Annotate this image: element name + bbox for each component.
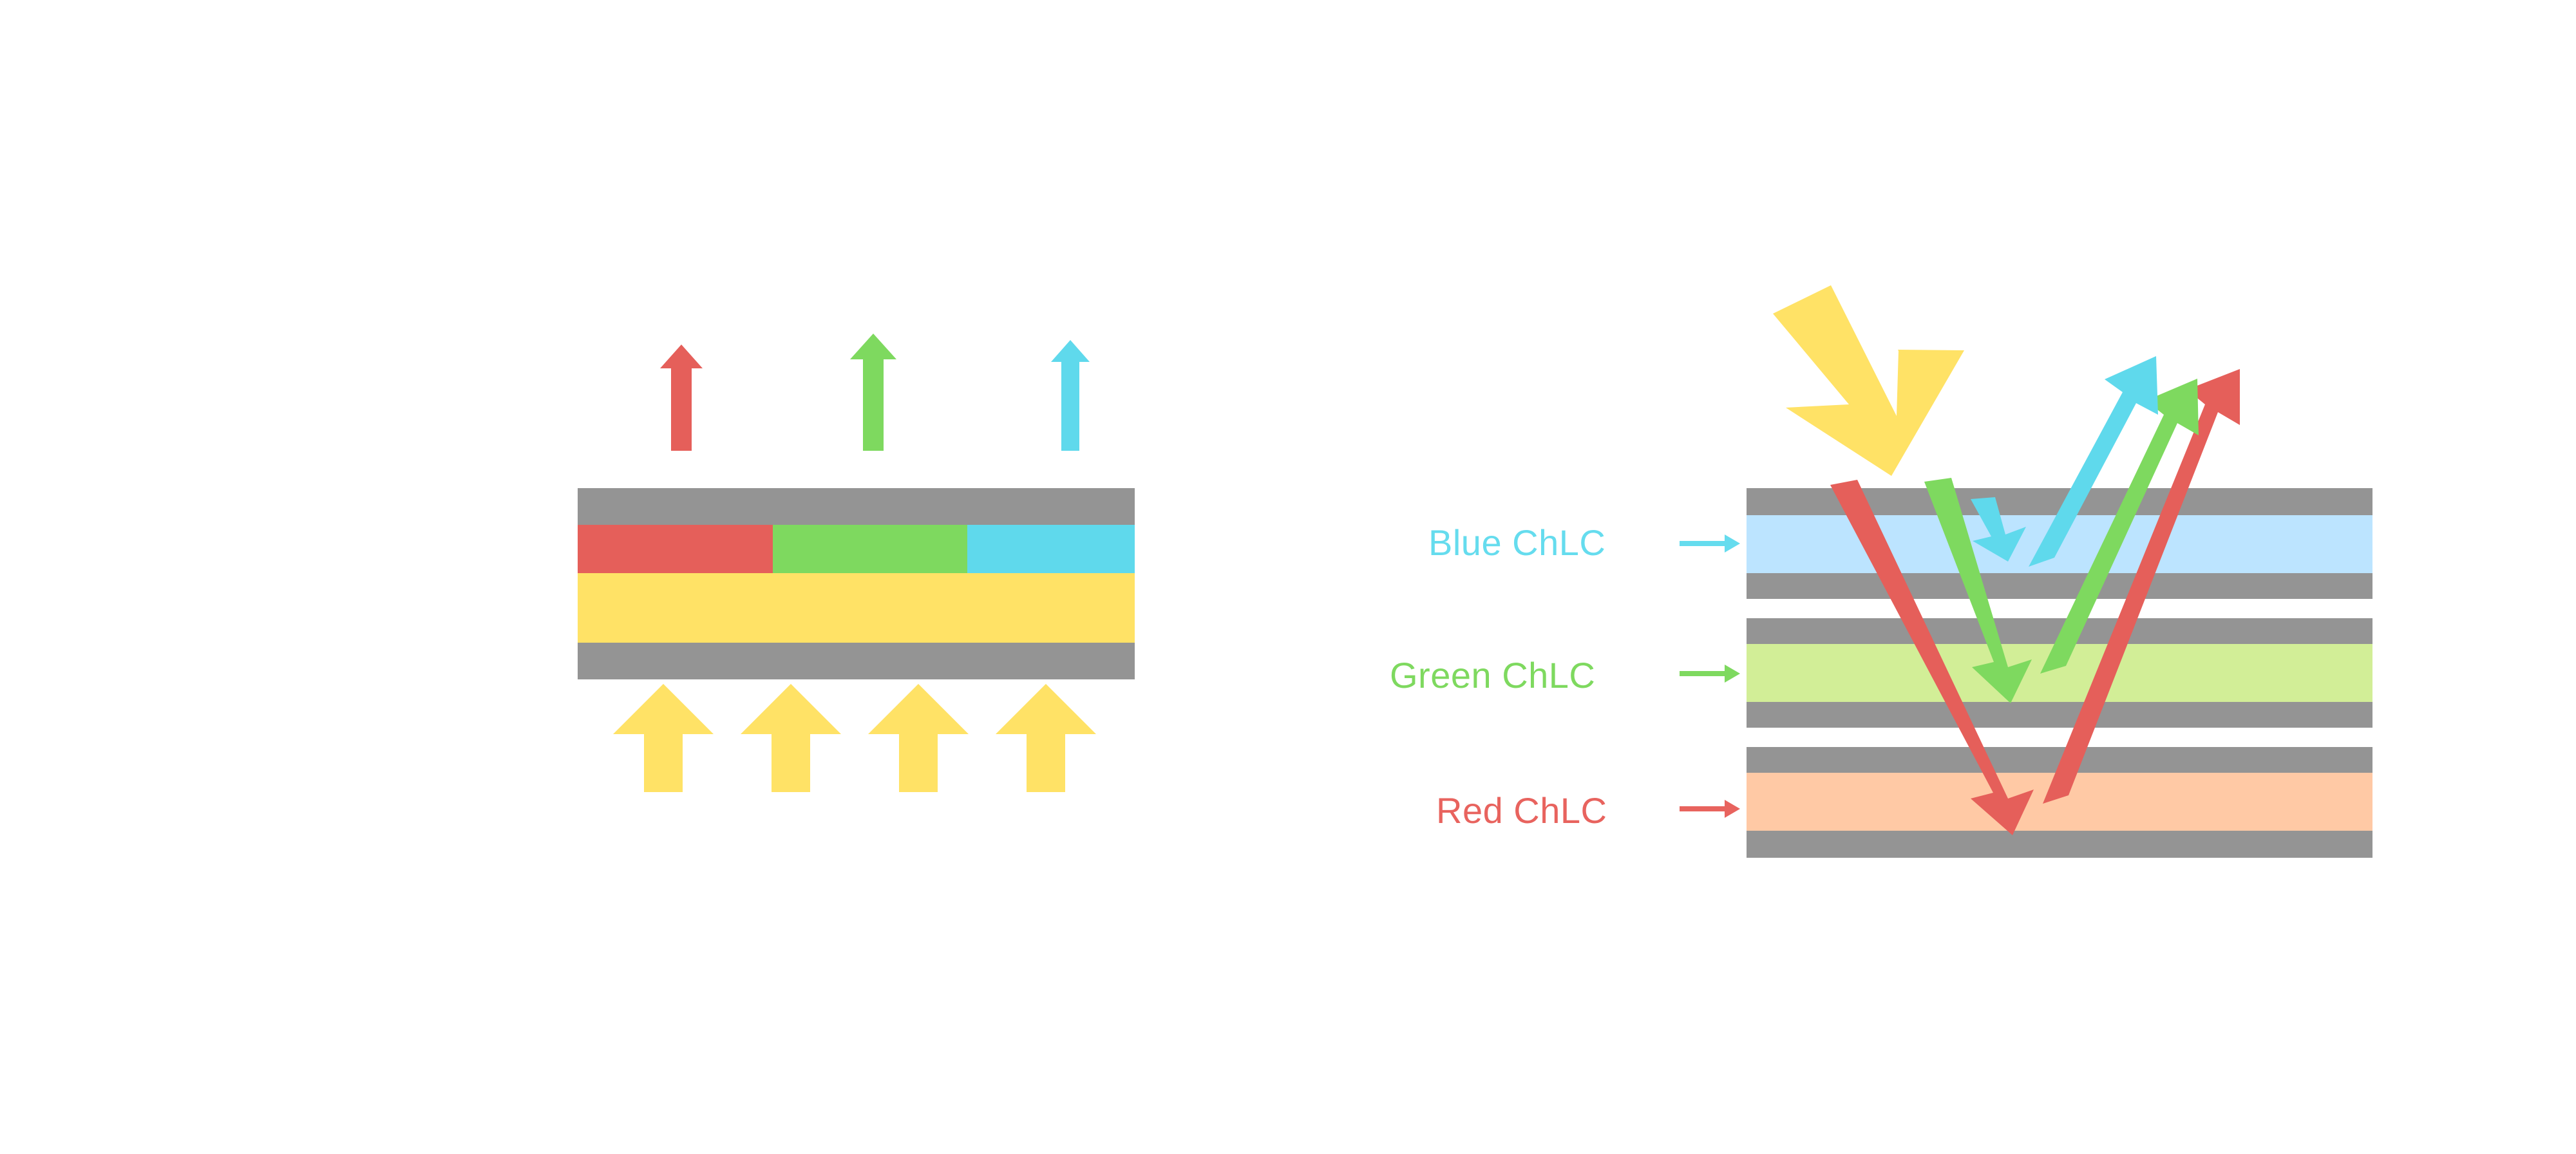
green-chlc-label-group: Green ChLC — [1390, 655, 1740, 695]
left-bottom-electrode — [578, 643, 1135, 679]
diagram-canvas: Blue ChLC Green ChLC Red ChLC — [0, 0, 2576, 1154]
red-chlc-label: Red ChLC — [1436, 790, 1607, 831]
red-filter-segment — [578, 525, 773, 573]
green-cell-bottom-electrode — [1747, 702, 2372, 728]
red-cell-bottom-electrode — [1747, 831, 2372, 858]
backlight-arrow — [613, 684, 714, 792]
blue-cell-bottom-electrode — [1747, 573, 2372, 599]
blue-label-pointer-arrow — [1680, 534, 1740, 553]
backlight-arrow — [741, 684, 841, 792]
ambient-light-arrow — [1773, 285, 1964, 476]
blue-emitted-arrow — [1051, 340, 1090, 451]
left-stack-group — [578, 488, 1135, 679]
blue-filter-segment — [967, 525, 1135, 573]
backlight-arrows-group — [613, 684, 1096, 792]
blue-chlc-label-group: Blue ChLC — [1428, 522, 1740, 563]
red-chlc-label-group: Red ChLC — [1436, 790, 1740, 831]
left-panel-group — [578, 334, 1135, 792]
green-chlc-label: Green ChLC — [1390, 655, 1595, 695]
backlight-arrow — [996, 684, 1096, 792]
chlc-display-diagram: Blue ChLC Green ChLC Red ChLC — [0, 0, 2576, 1154]
backlight-layer — [578, 573, 1135, 643]
blue-chlc-label: Blue ChLC — [1428, 522, 1605, 563]
right-panel-group: Blue ChLC Green ChLC Red ChLC — [1390, 285, 2372, 858]
backlight-arrow — [868, 684, 969, 792]
left-top-electrode — [578, 488, 1135, 525]
green-emitted-arrow — [850, 334, 896, 451]
left-emitted-arrows-group — [660, 334, 1090, 451]
green-filter-segment — [773, 525, 967, 573]
red-label-pointer-arrow — [1680, 800, 1740, 818]
red-emitted-arrow — [660, 345, 703, 451]
green-label-pointer-arrow — [1680, 665, 1740, 683]
